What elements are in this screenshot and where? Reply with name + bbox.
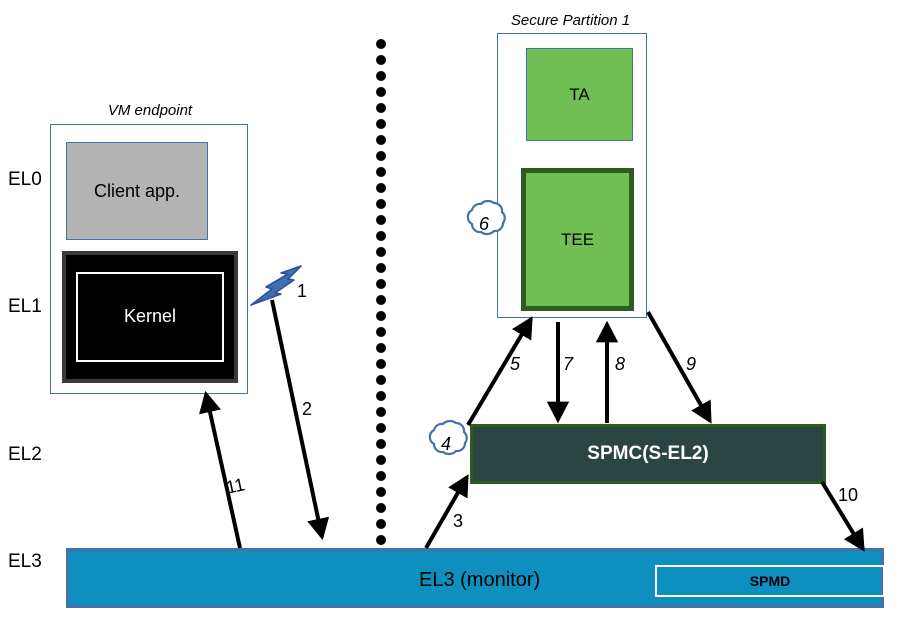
el-label-el1: EL1	[8, 297, 42, 316]
spmd-box[interactable]: SPMD	[655, 565, 885, 597]
arrow-label-8: 8	[615, 355, 625, 373]
cloud-callout-6[interactable]: 6	[466, 208, 502, 240]
arrow-label-10: 10	[838, 486, 858, 504]
spmc-box[interactable]: SPMC(S-EL2)	[470, 424, 826, 484]
el-label-el2: EL2	[8, 445, 42, 464]
secure-partition-caption: Secure Partition 1	[483, 13, 658, 28]
kernel-inner-frame: Kernel	[76, 272, 224, 363]
arrow-label-11: 11	[224, 475, 246, 496]
diagram-canvas: EL0 EL1 EL2 EL3 VM endpoint Secure Parti…	[0, 0, 899, 625]
secure-nonsecure-divider	[376, 39, 386, 545]
arrow-label-9: 9	[686, 355, 696, 373]
arrow-label-7: 7	[563, 355, 573, 373]
el3-monitor-label: EL3 (monitor)	[419, 569, 540, 592]
arrow-label-2: 2	[302, 400, 312, 418]
arrow-5	[468, 319, 531, 425]
kernel-label: Kernel	[124, 306, 176, 327]
el-label-el3: EL3	[8, 552, 42, 571]
tee-label: TEE	[561, 230, 594, 250]
el-label-el0: EL0	[8, 170, 42, 189]
client-app-label: Client app.	[94, 181, 180, 202]
cloud-callout-4-label: 4	[441, 435, 451, 453]
arrow-label-1: 1	[297, 282, 307, 300]
spmd-label: SPMD	[750, 573, 790, 589]
cloud-callout-6-label: 6	[479, 215, 489, 233]
ta-label: TA	[569, 85, 589, 105]
cloud-callout-4[interactable]: 4	[428, 428, 464, 460]
arrow-label-3: 3	[453, 512, 463, 530]
arrow-label-5: 5	[510, 355, 520, 373]
arrow-11	[206, 394, 240, 548]
lightning-bolt-icon	[251, 266, 301, 305]
ta-box[interactable]: TA	[526, 48, 633, 141]
arrow-9	[648, 312, 710, 421]
tee-box[interactable]: TEE	[521, 168, 634, 311]
vm-endpoint-caption: VM endpoint	[50, 103, 250, 118]
spmc-label: SPMC(S-EL2)	[587, 443, 708, 465]
arrow-2	[272, 300, 322, 537]
el3-monitor-bar[interactable]: EL3 (monitor) SPMD	[66, 548, 884, 608]
client-app-box[interactable]: Client app.	[66, 142, 208, 240]
kernel-box[interactable]: Kernel	[62, 251, 238, 383]
